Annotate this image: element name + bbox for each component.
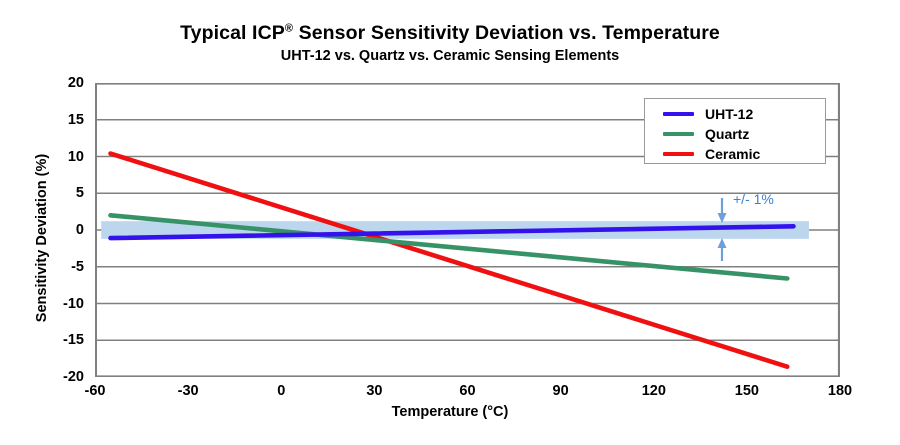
registered-trademark-icon: ® [285, 23, 293, 35]
x-tick-label: 120 [619, 383, 689, 399]
legend-item-quartz[interactable]: Quartz [645, 125, 825, 143]
chart-container: Typical ICP® Sensor Sensitivity Deviatio… [0, 0, 900, 445]
x-axis-label: Temperature (°C) [0, 404, 900, 420]
x-tick-label: 60 [433, 383, 503, 399]
x-tick-label: 150 [712, 383, 782, 399]
legend-item-ceramic[interactable]: Ceramic [645, 145, 825, 163]
legend-item-uht12[interactable]: UHT-12 [645, 105, 825, 123]
chart-title-rest: Sensor Sensitivity Deviation vs. Tempera… [293, 22, 720, 44]
chart-legend: UHT-12 Quartz Ceramic [644, 98, 826, 164]
legend-swatch-uht12 [663, 112, 694, 116]
x-tick-label: 90 [526, 383, 596, 399]
legend-label-uht12: UHT-12 [705, 107, 753, 121]
chart-title-main: Typical ICP [180, 22, 285, 44]
legend-swatch-quartz [663, 132, 694, 136]
series-line-ceramic [111, 154, 788, 367]
data-series-layer [111, 154, 794, 367]
x-tick-label: 0 [246, 383, 316, 399]
x-tick-label: -30 [153, 383, 223, 399]
x-tick-label: -60 [60, 383, 130, 399]
arrow-down-icon [718, 198, 727, 223]
legend-label-quartz: Quartz [705, 127, 749, 141]
arrow-up-icon [718, 238, 727, 261]
chart-subtitle: UHT-12 vs. Quartz vs. Ceramic Sensing El… [0, 48, 900, 64]
legend-swatch-ceramic [663, 152, 694, 156]
chart-title: Typical ICP® Sensor Sensitivity Deviatio… [0, 22, 900, 45]
y-tick-label: 20 [28, 75, 84, 91]
y-axis-label: Sensitivity Deviation (%) [34, 108, 50, 368]
legend-label-ceramic: Ceramic [705, 147, 760, 161]
tolerance-label: +/- 1% [733, 191, 774, 207]
x-tick-label: 180 [805, 383, 875, 399]
x-tick-label: 30 [339, 383, 409, 399]
